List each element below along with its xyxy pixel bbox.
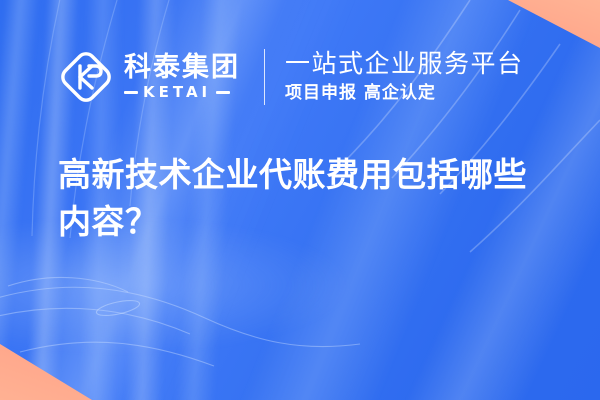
ketai-diamond-kp-monogram-icon — [58, 49, 114, 105]
brand-name-en: KETAI — [143, 85, 211, 100]
brand-name-cn: 科泰集团 — [124, 54, 240, 82]
banner-header: 科泰集团 KETAI 一站式企业服务平台 项目申报 高企认定 — [58, 44, 524, 110]
brand-logo[interactable]: 科泰集团 KETAI — [58, 49, 240, 105]
page-title: 高新技术企业代账费用包括哪些内容？ — [58, 152, 554, 246]
tagline-primary: 一站式企业服务平台 — [285, 49, 524, 78]
article-cover-banner: 科泰集团 KETAI 一站式企业服务平台 项目申报 高企认定 高新技术企业代账费… — [0, 0, 600, 400]
wordmark-rule-left — [124, 91, 138, 94]
wordmark-rule-right — [216, 91, 230, 94]
header-divider — [264, 49, 265, 105]
brand-tagline: 一站式企业服务平台 项目申报 高企认定 — [285, 49, 524, 104]
tagline-secondary: 项目申报 高企认定 — [285, 83, 524, 104]
brand-name-en-row: KETAI — [124, 85, 240, 100]
brand-wordmark: 科泰集团 KETAI — [124, 54, 240, 100]
